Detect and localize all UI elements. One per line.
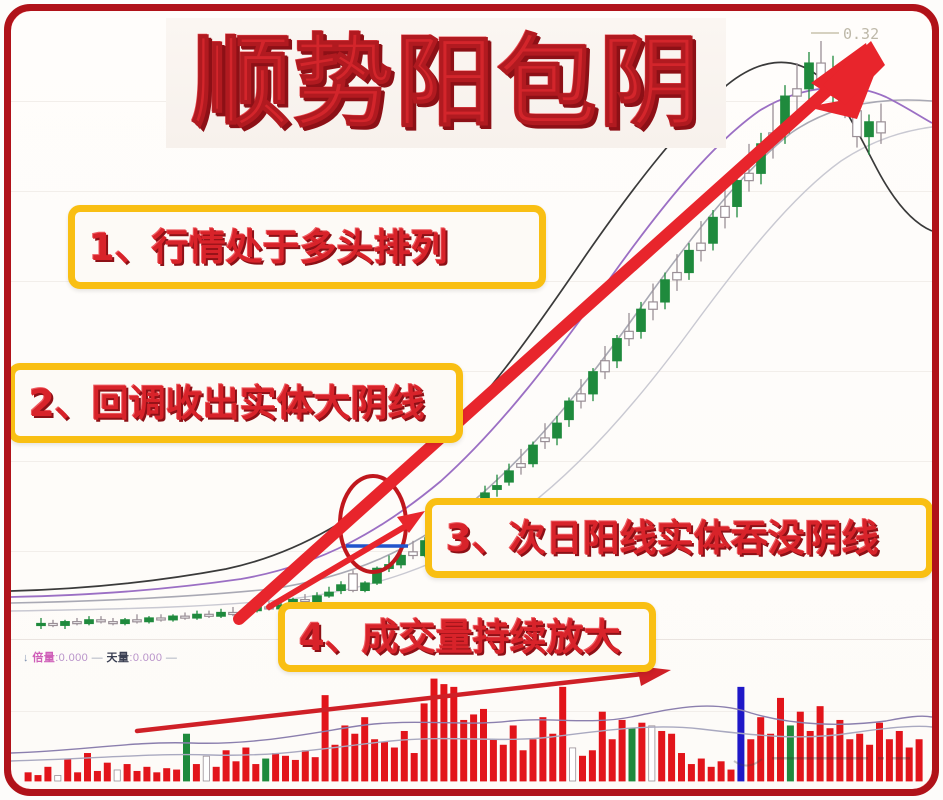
watermark	[728, 743, 918, 773]
callout-box-3: 3、次日阳线实体吞没阴线	[425, 498, 933, 578]
callout-label-4: 4、成交量持续放大	[299, 619, 621, 656]
readout-value-b: 0.000	[133, 652, 163, 664]
title-banner: 顺势阳包阴	[166, 18, 726, 148]
callout-box-4: 4、成交量持续放大	[278, 602, 656, 672]
readout-label-a: 倍量	[32, 652, 55, 664]
readout-value-a: 0.000	[59, 652, 89, 664]
callout-label-2: 2、回调收出实体大阴线	[29, 385, 425, 422]
callout-label-1: 1、行情处于多头排列	[89, 229, 448, 266]
callout-label-3: 3、次日阳线实体吞没阴线	[446, 520, 879, 557]
readout-dash-b: —	[166, 652, 177, 664]
readout-label-b: 天量	[107, 652, 130, 664]
indicator-readout: ↓ 倍量:0.000 — 天量:0.000 —	[23, 649, 177, 665]
callout-box-2: 2、回调收出实体大阴线	[8, 363, 463, 443]
readout-dash-a: —	[92, 652, 103, 664]
page-title: 顺势阳包阴	[191, 33, 701, 133]
readout-arrow-icon: ↓	[23, 652, 29, 664]
stock-pattern-infographic: 0.32 ↓ 倍量:0.000 — 天量:0.000 —	[0, 0, 943, 800]
callout-box-1: 1、行情处于多头排列	[68, 205, 546, 289]
